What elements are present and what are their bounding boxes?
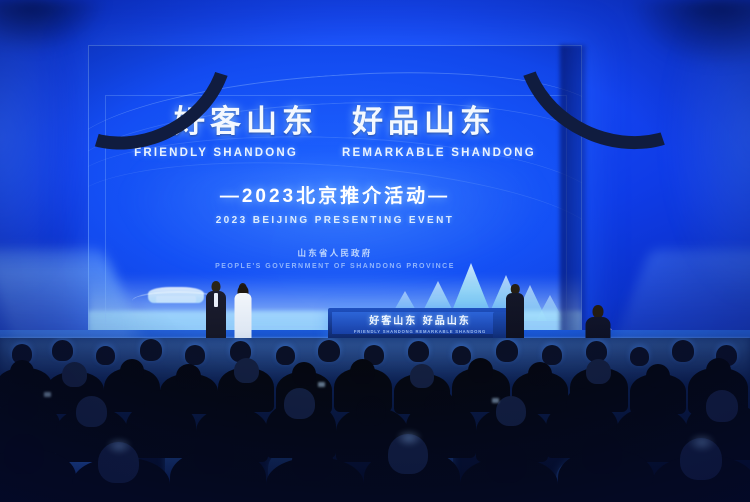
audience-head [452,346,471,365]
screen-text-block: 好客山东 好品山东 FRIENDLY SHANDONG REMARKABLE S… [88,107,582,270]
mountain-peak [536,295,564,321]
audience-head [646,364,670,388]
event-line-cn: —2023北京推介活动— [88,181,582,208]
audience-head [144,390,174,420]
audience-head [216,396,247,427]
title-left-cn: 好客山东 [174,107,318,138]
lectern-title-en: FRIENDLY SHANDONG REMARKABLE SHANDONG [354,329,486,334]
speaker-body [506,293,524,342]
phone-screen-glow [318,382,325,387]
phone-screen-glow [492,398,499,403]
hair-highlight [390,430,428,456]
audience-head [566,388,597,419]
lectern-title-cn: 好客山东 好品山东 [369,312,470,327]
audience-head [10,360,34,384]
audience-head [582,434,622,474]
audience-head [410,364,434,388]
audience-head [486,442,527,483]
audience-head [185,345,205,365]
audience-head [120,359,144,383]
lectern-display: 好客山东 好品山东 FRIENDLY SHANDONG REMARKABLE S… [332,312,508,334]
audience-head [276,346,295,365]
title-left-en: FRIENDLY SHANDONG [134,147,298,159]
audience-head [8,390,38,420]
audience-head [496,340,518,362]
audience-head [62,362,87,387]
hair-highlight [682,434,722,462]
audience-head [350,359,375,384]
audience-head [528,362,552,386]
host-woman [232,283,253,345]
audience-head [636,396,666,426]
audience-head [706,390,738,422]
audience-head [706,358,731,383]
audience-head [356,396,386,426]
audience-head [424,390,455,421]
audience-head [140,339,162,361]
speaker-at-lectern [505,284,525,342]
audience-head [468,358,493,383]
event-line-en: 2023 BEIJING PRESENTING EVENT [88,215,582,226]
main-title-english: FRIENDLY SHANDONG REMARKABLE SHANDONG [88,147,582,159]
host-man-shirt [214,293,218,307]
audience-head [292,362,316,386]
title-right-cn: 好品山东 [352,107,496,138]
audience-head [630,347,649,366]
audience-head [176,364,201,389]
hair-highlight [100,438,138,464]
audience-head [234,358,259,383]
audience-head [4,434,44,474]
audience-head [672,340,694,362]
event-stage-photo: 好客山东 好品山东 FRIENDLY SHANDONG REMARKABLE S… [0,0,750,502]
audience-head [76,396,107,427]
organizer-cn: 山东省人民政府 [88,247,582,259]
audience-head [318,340,340,362]
pagoda-graphic [148,287,204,303]
audience-head [408,341,429,362]
audience-head [52,340,73,361]
main-title: 好客山东 好品山东 [88,107,582,138]
audience-head [194,434,234,474]
audience-head [496,396,526,426]
audience-area [0,338,750,502]
audience-head [542,345,562,365]
audience-head [292,440,333,481]
audience-head [586,359,611,384]
host-man [205,281,227,345]
ceiling-shadow-right [600,0,750,90]
title-right-en: REMARKABLE SHANDONG [342,147,536,159]
audience-head [284,388,315,419]
organizer-en: PEOPLE'S GOVERNMENT OF SHANDONG PROVINCE [88,263,582,270]
audience-head [96,346,115,365]
phone-screen-glow [44,392,51,397]
